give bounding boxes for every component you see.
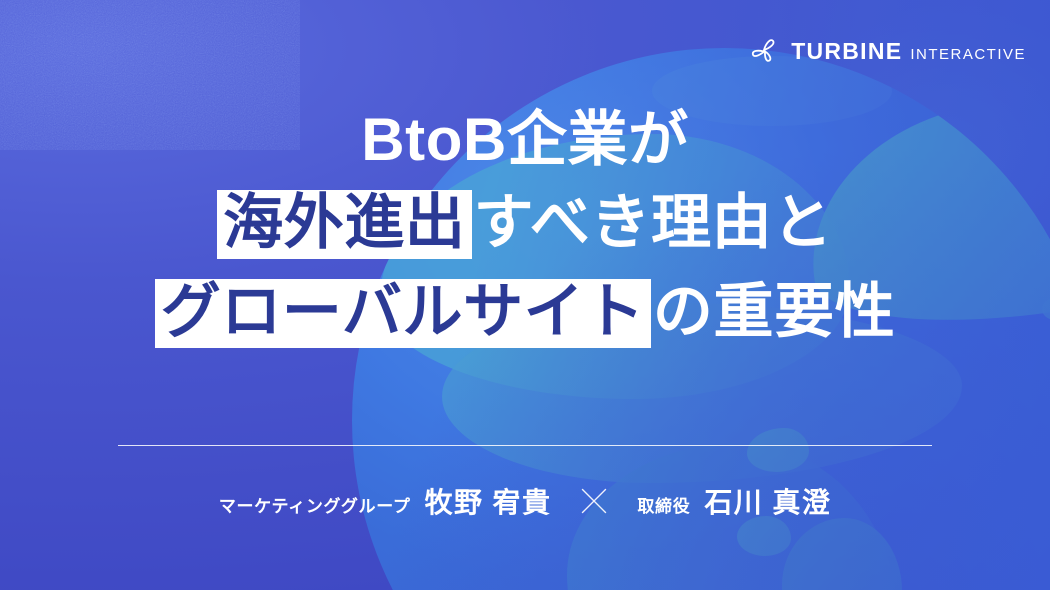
title-segment: すべき理由と [474, 189, 833, 256]
speaker-role: マーケティンググループ [219, 492, 411, 517]
cross-x-icon [577, 484, 611, 518]
title-segment: BtoB企業が [361, 106, 689, 173]
turbine-propeller-icon [747, 34, 781, 68]
title-segment-highlighted: グローバルサイト [155, 279, 651, 348]
title-line-3: グローバルサイトの重要性 [0, 279, 1050, 348]
speaker-left: マーケティンググループ 牧野 宥貴 [219, 481, 552, 521]
speaker-right: 取締役 石川 真澄 [637, 481, 831, 521]
title-line-2: 海外進出すべき理由と [0, 190, 1050, 259]
title-segment-highlighted: 海外進出 [217, 190, 471, 259]
brand-name-secondary: INTERACTIVE [910, 47, 1026, 62]
title-line-1: BtoB企業が [0, 110, 1050, 170]
brand-name-primary: TURBINE [791, 40, 902, 63]
speaker-name: 牧野 宥貴 [425, 481, 552, 521]
brand-logo-text: TURBINE INTERACTIVE [791, 40, 1026, 63]
presentation-slide: TURBINE INTERACTIVE BtoB企業が 海外進出すべき理由と グ… [0, 0, 1050, 590]
speaker-list: マーケティンググループ 牧野 宥貴 取締役 石川 真澄 [0, 481, 1050, 521]
brand-logo: TURBINE INTERACTIVE [747, 34, 1026, 68]
speaker-role: 取締役 [637, 492, 690, 517]
slide-title: BtoB企業が 海外進出すべき理由と グローバルサイトの重要性 [0, 110, 1050, 348]
horizontal-divider [118, 445, 932, 446]
speaker-name: 石川 真澄 [704, 481, 831, 521]
title-segment: の重要性 [653, 278, 895, 345]
